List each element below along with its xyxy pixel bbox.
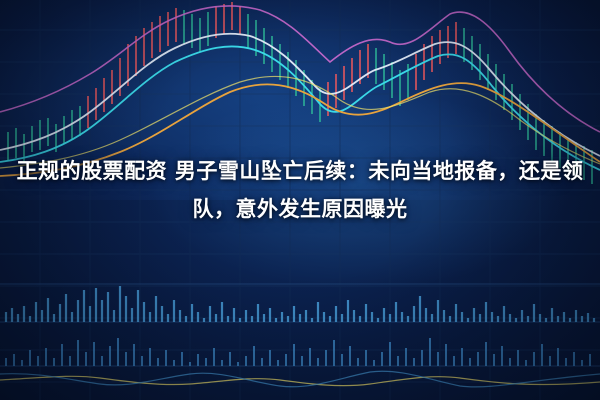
indicator-blue-line xyxy=(0,371,600,387)
macd-histogram xyxy=(6,338,590,366)
screenshot-root: 正规的股票配资 男子雪山坠亡后续：未向当地报备，还是领队，意外发生原因曝光 xyxy=(0,0,600,400)
headline-overlay: 正规的股票配资 男子雪山坠亡后续：未向当地报备，还是领队，意外发生原因曝光 xyxy=(0,152,600,228)
headline-text: 正规的股票配资 男子雪山坠亡后续：未向当地报备，还是领队，意外发生原因曝光 xyxy=(12,152,588,228)
